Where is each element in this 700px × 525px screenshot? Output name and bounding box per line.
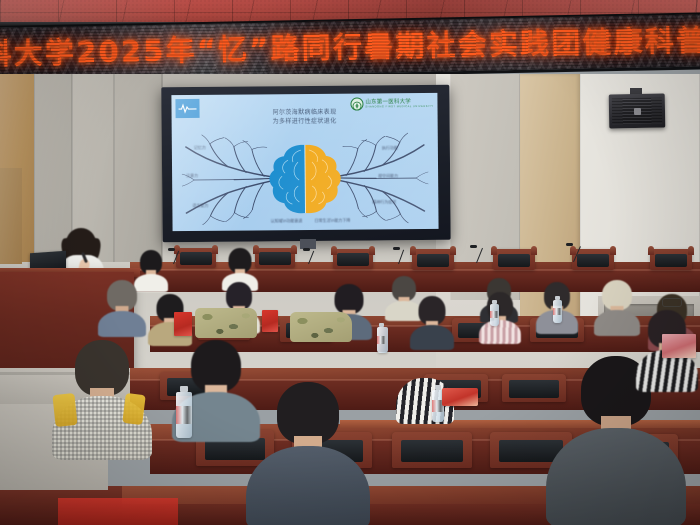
foreground-red-strip [58,498,178,525]
dais-chair-5 [493,249,535,270]
dais-chair-1 [176,248,216,268]
eyeglasses-icon [662,298,682,307]
dais-chair-7 [650,249,692,270]
water-bottle-3 [377,327,388,353]
microphone-head-4 [470,245,477,248]
audience-person-12-white-hair [594,280,640,334]
lecture-hall-photo: 科大学2025年“忆”路同行暑期社会实践团健康科普宣讲 [0,0,700,525]
audience-person-9 [410,296,454,348]
brain-label-left-3: 语言能力 [192,203,208,209]
camo-bag-2 [290,312,352,342]
audience-person-10 [479,292,521,342]
dais-chair-3 [333,249,373,269]
brain-label-right-2: 视空间能力 [378,173,398,179]
wall-mounted-loudspeaker [609,94,666,129]
red-box-2 [262,310,278,332]
dais-chair-2 [255,248,295,268]
slide-title: 阿尔茨海默病临床表现 为多样进行性症状退化 [172,107,438,127]
wall-panel-3 [114,74,162,262]
microphone-head-3 [393,247,400,250]
water-bottle-4 [176,392,192,438]
red-box-1 [174,312,192,336]
microphone-head-2 [303,248,310,251]
projection-screen: 山东第一医科大学 SHANDONG FIRST MEDICAL UNIVERSI… [161,85,450,243]
brain-diagram: 记忆力 注意力 语言能力 执行功能 视空间能力 精神行为症状 认知域\n功能衰退… [172,131,439,225]
row4-chair-3 [392,432,472,468]
wall-wood-panel-left-lower [0,168,22,264]
university-name: 山东第一医科大学 [365,99,433,106]
yellow-towel-right [122,393,146,425]
brain-label-right-3: 精神行为症状 [372,199,396,205]
audience-person-5 [98,280,146,336]
camo-bag-1 [195,308,257,338]
yellow-towel-left [52,393,77,427]
led-banner: 科大学2025年“忆”路同行暑期社会实践团健康科普宣讲 [0,12,700,83]
slide-title-line2: 为多样进行性症状退化 [172,116,438,127]
brain-label-right-1: 执行功能 [382,145,398,151]
water-bottle-1 [490,304,499,326]
red-box-3 [442,388,478,406]
wall-seam-3 [114,74,115,262]
speaker-brand-logo [634,108,641,115]
brain-label-bottom-1: 认知域\n功能衰退 [270,218,302,224]
microphone-head-5 [566,243,573,246]
microphone-head-1 [168,248,175,251]
audience-person-16-foreground [246,382,370,525]
water-bottle-2 [553,300,562,323]
screen-surface: 山东第一医科大学 SHANDONG FIRST MEDICAL UNIVERSI… [171,93,438,231]
brain-label-bottom-2: 日常生活\n能力下降 [314,218,350,224]
pink-box [662,334,696,358]
wall-seam-1 [34,74,35,262]
banner-scanlines [0,14,700,80]
dais-chair-4 [412,249,454,270]
brain-label-left-2: 注意力 [186,173,198,179]
brain-label-left-1: 记忆力 [194,145,206,151]
